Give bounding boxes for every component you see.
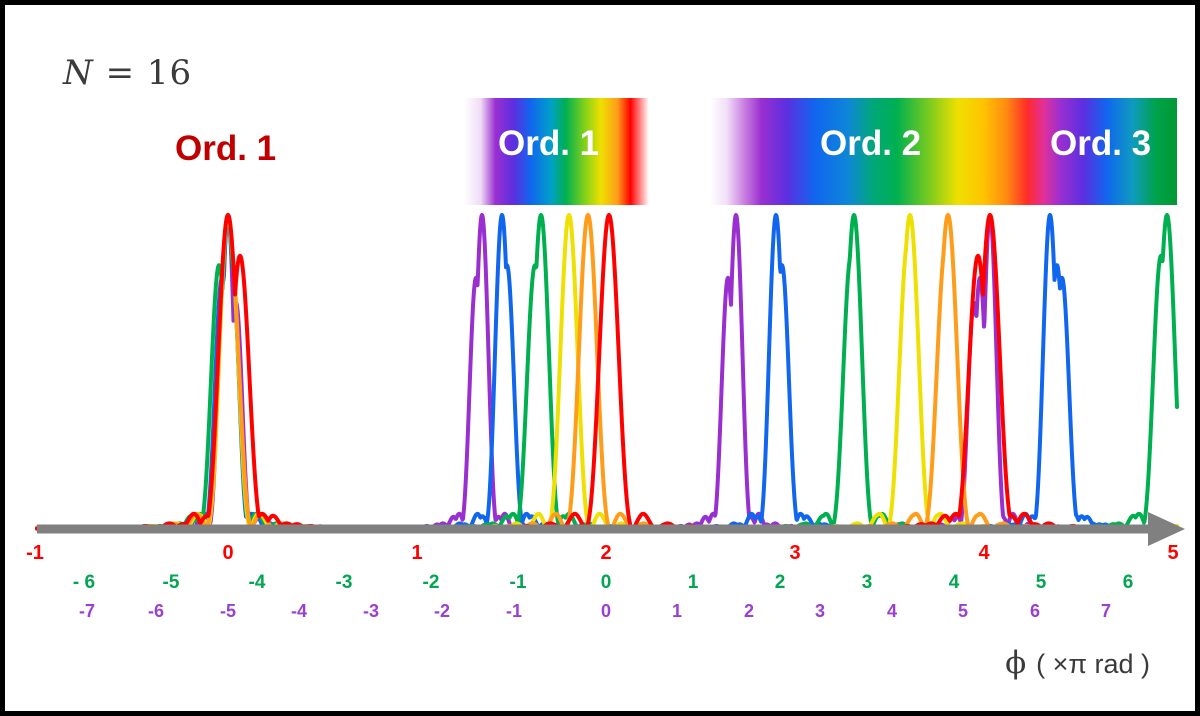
axis-tick: 3 (789, 543, 800, 563)
diffraction-figure: N = 16 Ord. 1 (0, 0, 1200, 716)
axis-tick: 1 (688, 573, 699, 593)
axis-tick: 2 (775, 573, 786, 593)
axis-tick: -4 (291, 601, 307, 621)
axis-tick: 4 (949, 573, 960, 593)
axis-tick: 5 (1167, 543, 1178, 563)
axis-tick: -3 (363, 601, 379, 621)
axis-tick: -4 (249, 573, 266, 593)
axis-tick: -1 (26, 543, 44, 563)
axis-tick: -1 (506, 601, 522, 621)
axis-tick: 5 (958, 601, 968, 621)
interference-plot (5, 5, 1200, 565)
tick-row-green: - 6-5-4-3-2-10123456 (5, 573, 1200, 597)
axis-tick: 0 (601, 573, 612, 593)
axis-tick: -6 (148, 601, 164, 621)
interference-curves (37, 215, 1177, 529)
axis-title-phi: ϕ (1005, 645, 1026, 681)
axis-tick: -3 (336, 573, 353, 593)
axis-tick: -2 (423, 573, 440, 593)
axis-tick: - 6 (73, 573, 95, 593)
axis-tick: 6 (1123, 573, 1134, 593)
axis-tick: 5 (1036, 573, 1047, 593)
tick-row-purple: -7-6-5-4-3-2-101234567 (5, 601, 1200, 625)
axis-tick: -1 (510, 573, 527, 593)
axis-tick: 3 (815, 601, 825, 621)
axis-tick: 0 (601, 601, 611, 621)
tick-row-red: -1012345 (5, 543, 1200, 567)
x-axis-arrowhead (1148, 512, 1185, 546)
axis-tick: 4 (978, 543, 989, 563)
axis-title-units: ( ×π rad ) (1036, 649, 1150, 679)
axis-tick: -7 (79, 601, 95, 621)
axis-tick: 0 (222, 543, 233, 563)
axis-tick: 1 (672, 601, 682, 621)
axis-title: ϕ ( ×π rad ) (1005, 645, 1150, 681)
axis-tick: 3 (862, 573, 873, 593)
axis-tick: -5 (163, 573, 180, 593)
axis-tick: 1 (411, 543, 422, 563)
axis-tick: -2 (434, 601, 450, 621)
axis-tick: 7 (1101, 601, 1111, 621)
axis-tick: 2 (744, 601, 754, 621)
axis-tick: 4 (887, 601, 897, 621)
curve-red (37, 215, 1177, 529)
axis-tick: -5 (220, 601, 236, 621)
axis-tick: 2 (600, 543, 611, 563)
axis-tick: 6 (1030, 601, 1040, 621)
